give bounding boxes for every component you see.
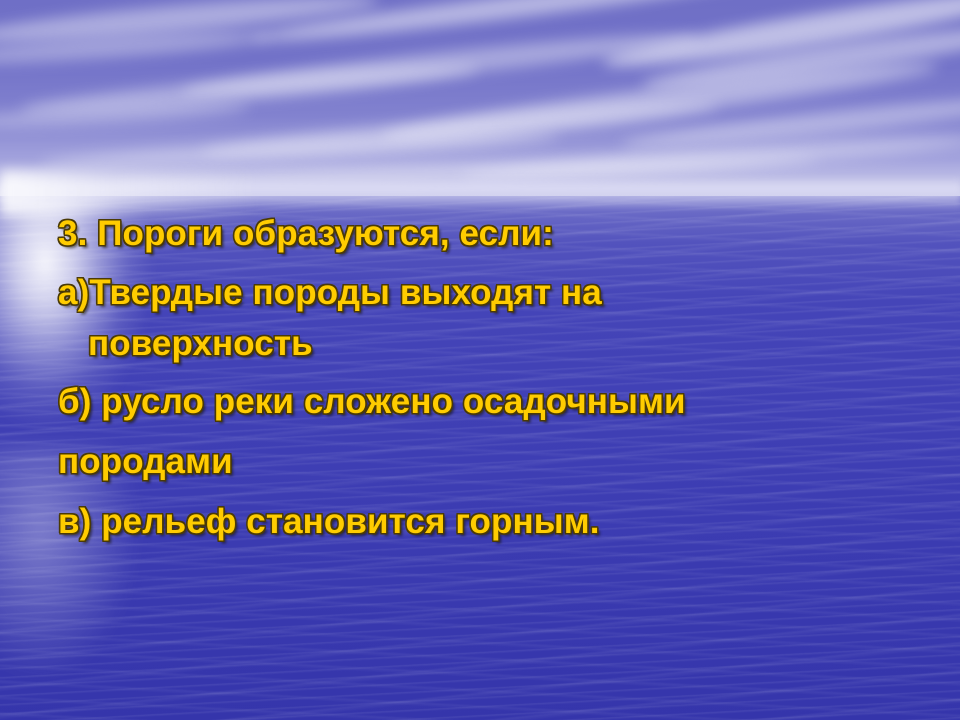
option-b-line-2: породами [58,444,233,479]
option-v-line: в) рельеф становится горным. [58,504,600,539]
slide-text-body: 3. Пороги образуются, если: а)Твердые по… [0,0,960,720]
option-a-line-1: а)Твердые породы выходят на [58,275,602,310]
option-a-line-2: поверхность [88,326,313,361]
slide-canvas: 3. Пороги образуются, если: а)Твердые по… [0,0,960,720]
option-b-line-1: б) русло реки сложено осадочными [58,384,686,419]
question-heading: 3. Пороги образуются, если: [58,216,554,251]
